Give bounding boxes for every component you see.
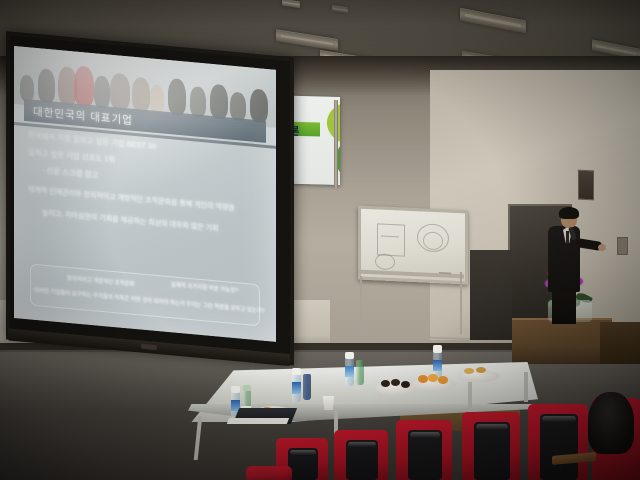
bottle-cap xyxy=(243,385,251,391)
bottle-cap xyxy=(433,345,442,353)
bottle-label xyxy=(433,360,442,371)
snack-item xyxy=(381,380,390,387)
photo-figure xyxy=(74,65,94,107)
snack-item xyxy=(476,367,486,373)
ceiling-light-fixture xyxy=(332,5,348,14)
presenter-hand xyxy=(598,244,606,251)
orange-slice xyxy=(428,374,438,382)
dark-wall-recess xyxy=(470,250,512,340)
photo-figure xyxy=(94,75,110,108)
bottle-cap xyxy=(231,386,240,393)
photo-figure xyxy=(150,84,164,113)
orange-slice xyxy=(438,376,448,384)
whiteboard-leg xyxy=(360,276,362,338)
slide-body: 한국에서 가장 일하고 싶은 기업 BEST 30 일하고 싶은 기업 선호도 … xyxy=(28,131,264,245)
projected-slide: 대한민국의 대표기업 한국에서 가장 일하고 싶은 기업 BEST 30 일하고… xyxy=(14,46,276,342)
banner-pole xyxy=(334,100,338,188)
wall-speaker xyxy=(578,170,594,201)
callout-line-top-right: 실제적 국가지원 부분 가능성? xyxy=(171,283,238,295)
photo-figure xyxy=(210,84,228,120)
wall-switch-plate xyxy=(617,237,628,255)
presenter-legs xyxy=(552,288,576,324)
table-leg xyxy=(524,372,528,402)
photo-figure xyxy=(110,73,130,111)
orange-slice xyxy=(418,375,428,383)
photo-figure xyxy=(250,88,268,123)
snack-item xyxy=(464,368,474,374)
snack-item xyxy=(391,379,400,386)
projection-screen: 대한민국의 대표기업 한국에서 가장 일하고 싶은 기업 BEST 30 일하고… xyxy=(6,31,286,366)
audience-member-head xyxy=(588,392,634,454)
whiteboard-sketch xyxy=(423,231,443,250)
water-bottle xyxy=(303,374,311,400)
photo-figure xyxy=(38,68,55,104)
bottle-label xyxy=(345,366,354,377)
ceiling-light-fixture xyxy=(276,29,338,51)
bottle-label xyxy=(292,382,301,394)
ceiling-light-fixture xyxy=(282,0,300,8)
table-leg xyxy=(468,382,472,416)
whiteboard-leg xyxy=(460,272,462,334)
whiteboard-sketch xyxy=(375,253,395,270)
bottle-cap xyxy=(345,352,354,359)
notebook-pages xyxy=(227,418,289,424)
snack-item xyxy=(401,381,410,388)
photo-figure xyxy=(168,78,186,116)
presenter-tie xyxy=(566,231,569,244)
whiteboard-sketch xyxy=(377,223,405,256)
slide-callout-box: 창의적이고 개방적인 조직문화 실제적 국가지원 부분 가능성? 이러한 기업들… xyxy=(30,263,260,326)
seminar-room-photo: 수회 전략토론 환경공학과 대 xyxy=(0,0,640,480)
photo-figure xyxy=(190,86,206,117)
presenter-hair xyxy=(559,207,579,219)
stage-platform xyxy=(512,318,612,364)
photo-figure xyxy=(230,92,246,121)
photo-figure xyxy=(20,75,34,102)
bottle-cap xyxy=(292,368,301,375)
stage-platform-side xyxy=(600,322,640,364)
ceiling-light-fixture xyxy=(460,8,526,34)
photo-figure xyxy=(132,77,150,113)
callout-line-top-left: 창의적이고 개방적인 조직문화 xyxy=(67,277,134,289)
water-bottle xyxy=(356,360,364,385)
